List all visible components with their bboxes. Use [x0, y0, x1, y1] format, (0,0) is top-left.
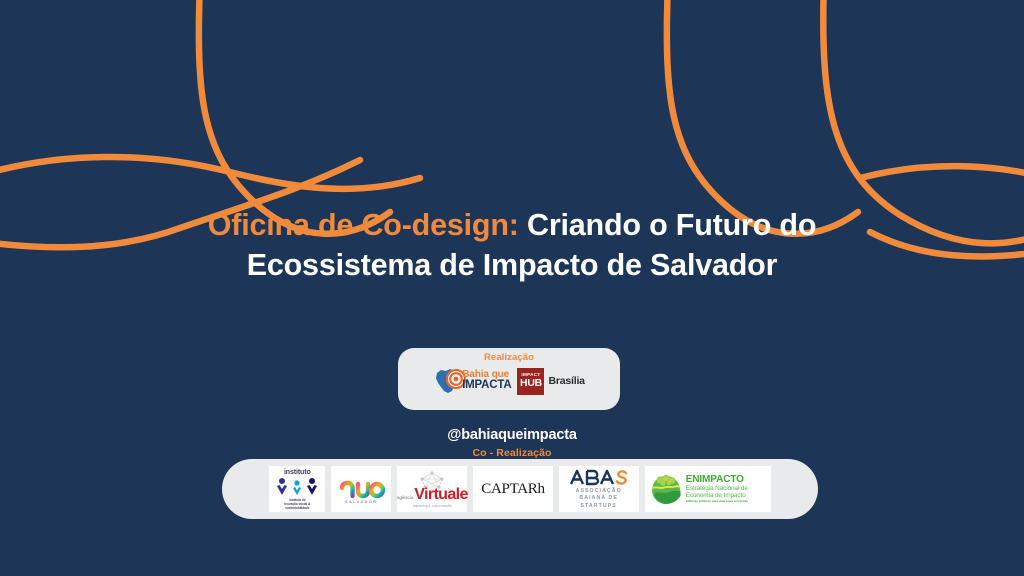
impact-hub-brasilia-logo: IMPACT HUB Brasília	[517, 368, 584, 395]
partner-logo-instituto-yvy: instituto instituto deinovação	[269, 466, 325, 512]
instagram-handle: @bahiaqueimpacta	[0, 427, 1024, 443]
impact-hub-badge-main: HUB	[520, 378, 542, 389]
impact-hub-city: Brasília	[548, 375, 584, 387]
bahia-que-impacta-logo: Bahia que IMPACTA	[433, 366, 511, 396]
title-line-1-rest: Criando o Futuro do	[519, 208, 817, 242]
hub-salvador-sub-text: SALVADOR	[345, 500, 377, 504]
virtuale-tagline: marketing & comunicação	[413, 504, 452, 508]
partner-logo-captarh: CAPTARh	[473, 466, 552, 512]
realizacao-panel: Realização Bahia que IMPACTA	[398, 348, 620, 410]
abas-wordmark-icon	[568, 468, 630, 486]
partner-logo-abas: ASSOCIAÇÃOBAIANA DESTARTUPS	[559, 466, 639, 512]
hub-salvador-wordmark-icon	[337, 475, 385, 499]
captarh-wordmark: CAPTARh	[477, 481, 548, 498]
yvy-top-text: instituto	[284, 469, 311, 476]
enimpacto-globe-icon	[649, 472, 683, 506]
co-realizacao-label: Co - Realização	[0, 447, 1024, 459]
partner-logo-enimpacto: ENIMPACTO Estratégia Nacional de Economi…	[645, 466, 771, 512]
impact-hub-badge: IMPACT HUB	[517, 368, 544, 395]
title-line-1: Oficina de Co-design: Criando o Futuro d…	[0, 205, 1024, 245]
bahia-que-impacta-wordmark: Bahia que IMPACTA	[462, 370, 511, 391]
enimpacto-sub-line-1: Estratégia Nacional de	[686, 485, 748, 492]
virtuale-wordmark: Virtuale	[414, 487, 468, 503]
realizacao-label: Realização	[484, 352, 534, 363]
page-title: Oficina de Co-design: Criando o Futuro d…	[0, 205, 1024, 286]
yvy-sub-text: instituto deinovação social &sustentabil…	[284, 498, 310, 510]
event-banner-slide: Oficina de Co-design: Criando o Futuro d…	[0, 0, 1024, 576]
title-line-2: Ecossistema de Impacto de Salvador	[0, 245, 1024, 285]
enimpacto-sub-line-2: Economia de Impacto	[686, 492, 748, 499]
abas-sub-text: ASSOCIAÇÃOBAIANA DESTARTUPS	[576, 488, 622, 511]
realizacao-logo-row: Bahia que IMPACTA IMPACT HUB Brasília	[433, 366, 585, 396]
title-accent-text: Oficina de Co-design:	[208, 208, 519, 242]
partner-logo-hub-salvador: SALVADOR	[331, 466, 391, 512]
partner-logo-agencia-virtuale: agência Virtuale marketing & comunicação	[397, 466, 467, 512]
bqi-line-2: IMPACTA	[462, 380, 511, 391]
co-realizacao-partner-strip: instituto instituto deinovação	[222, 459, 818, 519]
virtuale-top-text: agência	[397, 495, 413, 500]
enimpacto-wordmark: ENIMPACTO	[686, 474, 748, 485]
enimpacto-sub-line-3: Políticas públicas para uma nova economi…	[686, 500, 748, 503]
yvy-figures-icon	[275, 477, 319, 497]
